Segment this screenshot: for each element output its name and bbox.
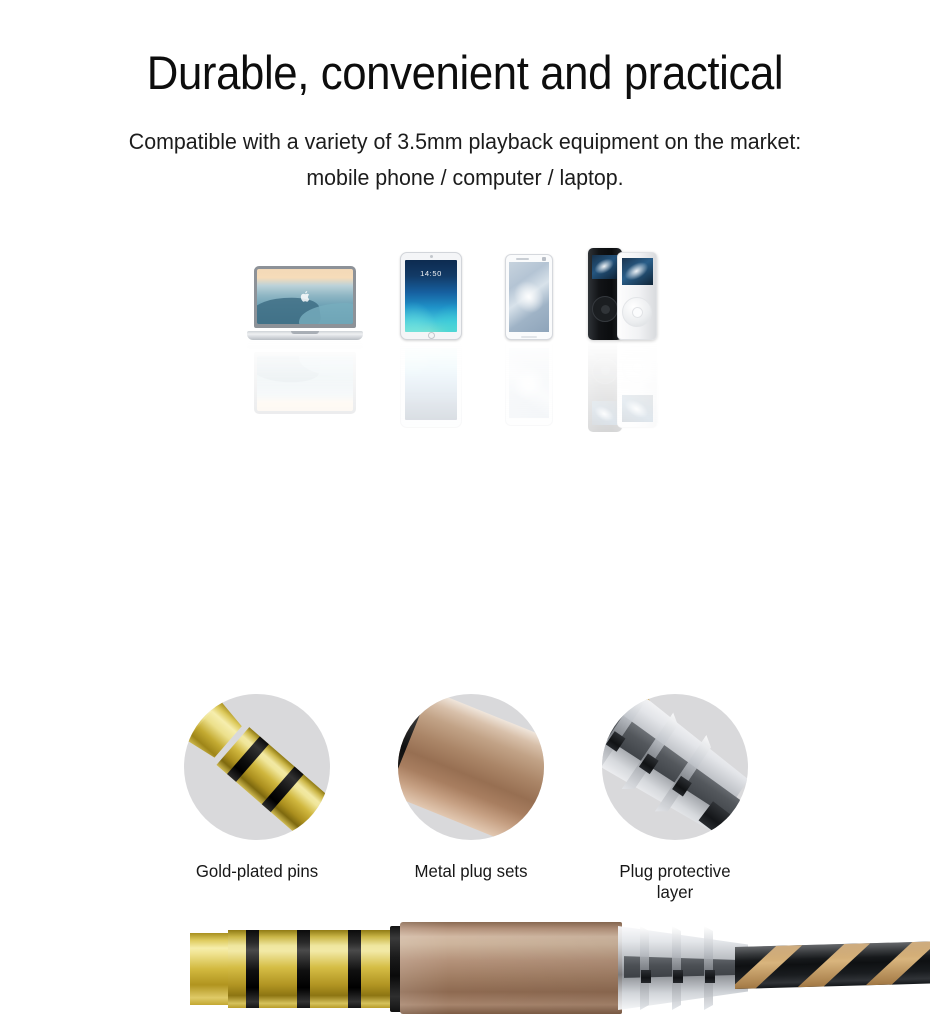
feature-1-label: Gold-plated pins xyxy=(187,861,327,882)
tablet-camera-icon xyxy=(430,255,433,258)
media-player-reflection xyxy=(588,340,660,432)
plug-sleeve-nub-1 xyxy=(641,970,651,983)
smartphone-reflection xyxy=(505,340,553,426)
gold-pin-icon xyxy=(184,694,330,840)
product-detail-page: Durable, convenient and practical Compat… xyxy=(0,0,930,930)
braided-cable xyxy=(735,942,930,989)
feature-3-label: Plug protective layer xyxy=(605,861,745,903)
laptop-base xyxy=(247,331,363,340)
plug-sleeve-rib-1 xyxy=(640,926,649,1010)
tablet-reflection xyxy=(400,340,462,428)
plug-sleeve-rib-2 xyxy=(672,926,681,1010)
tablet-home-button xyxy=(428,332,435,339)
feature-gold-plated-pins: Gold-plated pins xyxy=(184,694,330,882)
smartphone-speaker-icon xyxy=(516,258,529,260)
media-player-white-screen xyxy=(622,258,653,285)
apple-logo-icon xyxy=(300,290,311,303)
metal-barrel-icon xyxy=(398,694,544,840)
plug-insulator-ring-1 xyxy=(246,930,259,1008)
feature-callouts: Gold-plated pins Metal plug sets xyxy=(0,694,930,894)
feature-1-image xyxy=(184,694,330,840)
plug-metal-barrel xyxy=(400,922,622,1014)
laptop-lid xyxy=(254,266,356,328)
media-player-black-screen xyxy=(592,255,618,279)
laptop-reflection xyxy=(247,340,363,414)
media-player-white xyxy=(617,252,657,340)
page-headline: Durable, convenient and practical xyxy=(33,48,898,97)
laptop-screen xyxy=(257,269,353,324)
feature-3-image xyxy=(602,694,748,840)
media-player-black-click-wheel xyxy=(592,296,618,322)
plug-sleeve-nub-3 xyxy=(705,970,715,983)
feature-2-label: Metal plug sets xyxy=(401,861,541,882)
feature-2-image xyxy=(398,694,544,840)
laptop-icon xyxy=(247,266,363,340)
plug-insulator-ring-2 xyxy=(297,930,310,1008)
compatible-devices-row: 14:50 xyxy=(0,252,930,392)
page-subtitle: Compatible with a variety of 3.5mm playb… xyxy=(23,124,907,196)
feature-plug-protective-layer: Plug protective layer xyxy=(602,694,748,903)
smartphone-home-bar xyxy=(521,336,537,338)
media-player-white-click-wheel xyxy=(622,297,652,327)
smartphone-icon xyxy=(505,254,553,340)
tablet-icon: 14:50 xyxy=(400,252,462,340)
tablet-screen: 14:50 xyxy=(405,260,457,332)
plug-sleeve-rib-3 xyxy=(704,926,713,1010)
hero-product-image xyxy=(0,452,930,592)
page-subtitle-line-1: Compatible with a variety of 3.5mm playb… xyxy=(129,129,801,154)
smartphone-screen xyxy=(509,262,549,332)
smartphone-body xyxy=(505,254,553,340)
plug-sleeve-nub-2 xyxy=(673,970,683,983)
smartphone-top-bar xyxy=(505,256,553,260)
plug-insulator-ring-3 xyxy=(348,930,361,1008)
protective-sleeve-icon xyxy=(602,694,748,840)
tablet-body: 14:50 xyxy=(400,252,462,340)
tablet-clock: 14:50 xyxy=(405,269,457,278)
smartphone-camera-icon xyxy=(542,257,546,261)
page-subtitle-line-2: mobile phone / computer / laptop. xyxy=(23,160,907,196)
feature-metal-plug-sets: Metal plug sets xyxy=(398,694,544,882)
media-player-icon xyxy=(588,248,660,340)
